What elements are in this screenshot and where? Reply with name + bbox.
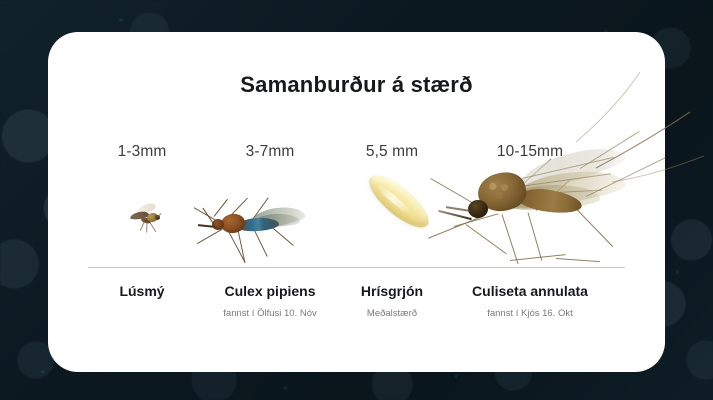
culiseta-leg — [466, 224, 507, 254]
midge-leg — [140, 222, 145, 231]
size-label-culex-pipiens: 3-7mm — [246, 143, 295, 161]
culiseta-palp — [446, 206, 470, 211]
subtitle-culex-pipiens: fannst í Ölfusi 10. Nóv — [223, 308, 316, 319]
page-title: Samanburður á stærð — [48, 72, 665, 98]
culiseta-proboscis — [438, 210, 472, 220]
size-label-lusmy: 1-3mm — [118, 143, 167, 161]
card-clip-area: Samanburður á stærð 1-3mm 3-7mm 5,5 mm 1… — [48, 32, 665, 372]
culiseta-leg — [528, 212, 543, 260]
culex-leg — [253, 229, 267, 256]
divider-line — [88, 267, 625, 268]
specimen-culex-pipiens — [194, 172, 314, 268]
specimen-culiseta-annulata — [436, 128, 665, 278]
comparison-card: Samanburður á stærð 1-3mm 3-7mm 5,5 mm 1… — [48, 32, 665, 372]
subtitle-hrisgrjon: Meðalstærð — [367, 308, 417, 319]
name-label-culiseta-annulata: Culiseta annulata — [472, 283, 588, 299]
name-label-hrisgrjon: Hrísgrjón — [361, 283, 423, 299]
culex-antenna — [202, 208, 214, 225]
culiseta-leg — [556, 258, 600, 262]
name-label-lusmy: Lúsmý — [119, 283, 164, 299]
culex-leg — [197, 228, 224, 244]
culiseta-leg — [574, 206, 614, 247]
culiseta-leg — [502, 214, 519, 264]
subtitle-culiseta-annulata: fannst í Kjós 16. Okt — [487, 308, 573, 319]
culiseta-head — [468, 200, 488, 218]
midge-leg — [146, 222, 147, 232]
midge-leg — [150, 222, 157, 232]
name-label-culex-pipiens: Culex pipiens — [224, 283, 315, 299]
culex-leg — [272, 227, 294, 246]
culex-antenna — [214, 199, 228, 217]
size-label-hrisgrjon: 5,5 mm — [366, 143, 418, 161]
specimen-biting-midge — [124, 200, 168, 240]
